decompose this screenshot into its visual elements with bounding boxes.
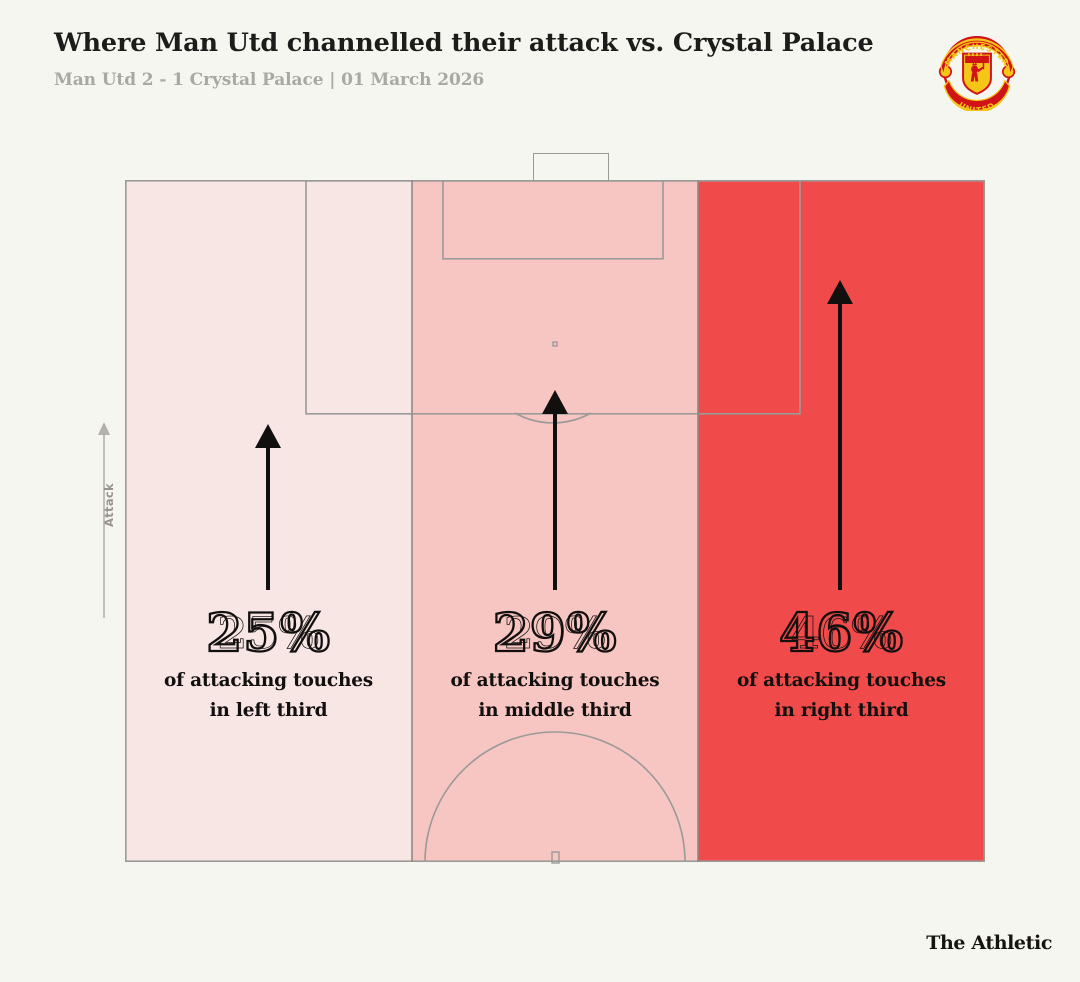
penalty-spot — [553, 342, 557, 346]
attack-arrow-left — [248, 422, 288, 597]
attack-arrow-middle — [535, 388, 575, 597]
stat-block-middle: 29% 29% of attacking touches in middle t… — [412, 606, 698, 726]
stat-percent-right: 46% 46% — [698, 606, 985, 662]
stat-line1-left: of attacking touches — [125, 666, 412, 696]
attack-axis: Attack — [92, 420, 128, 620]
page-subtitle: Man Utd 2 - 1 Crystal Palace | 01 March … — [54, 67, 1026, 93]
stat-line2-right: in right third — [698, 696, 985, 726]
pitch-chart: 25% 25% of attacking touches in left thi… — [125, 180, 985, 862]
stat-block-left: 25% 25% of attacking touches in left thi… — [125, 606, 412, 726]
stat-percent-left-value: 25% — [206, 603, 331, 664]
stat-line1-right: of attacking touches — [698, 666, 985, 696]
attack-axis-label: Attack — [102, 470, 116, 540]
stat-line2-left: in left third — [125, 696, 412, 726]
the-athletic-logo: The Athletic — [926, 932, 1052, 954]
header: Where Man Utd channelled their attack vs… — [54, 26, 1026, 116]
stat-percent-middle: 29% 29% — [412, 606, 698, 662]
stat-percent-right-value: 46% — [779, 603, 904, 664]
attack-arrow-right — [820, 278, 860, 597]
goal-marking — [533, 153, 609, 181]
stat-line1-middle: of attacking touches — [412, 666, 698, 696]
stat-percent-middle-value: 29% — [493, 603, 618, 664]
manchester-united-crest-icon: MANCHESTER UNITED — [936, 29, 1018, 111]
page-title: Where Man Utd channelled their attack vs… — [54, 26, 1026, 60]
stat-block-right: 46% 46% of attacking touches in right th… — [698, 606, 985, 726]
stat-line2-middle: in middle third — [412, 696, 698, 726]
stat-percent-left: 25% 25% — [125, 606, 412, 662]
